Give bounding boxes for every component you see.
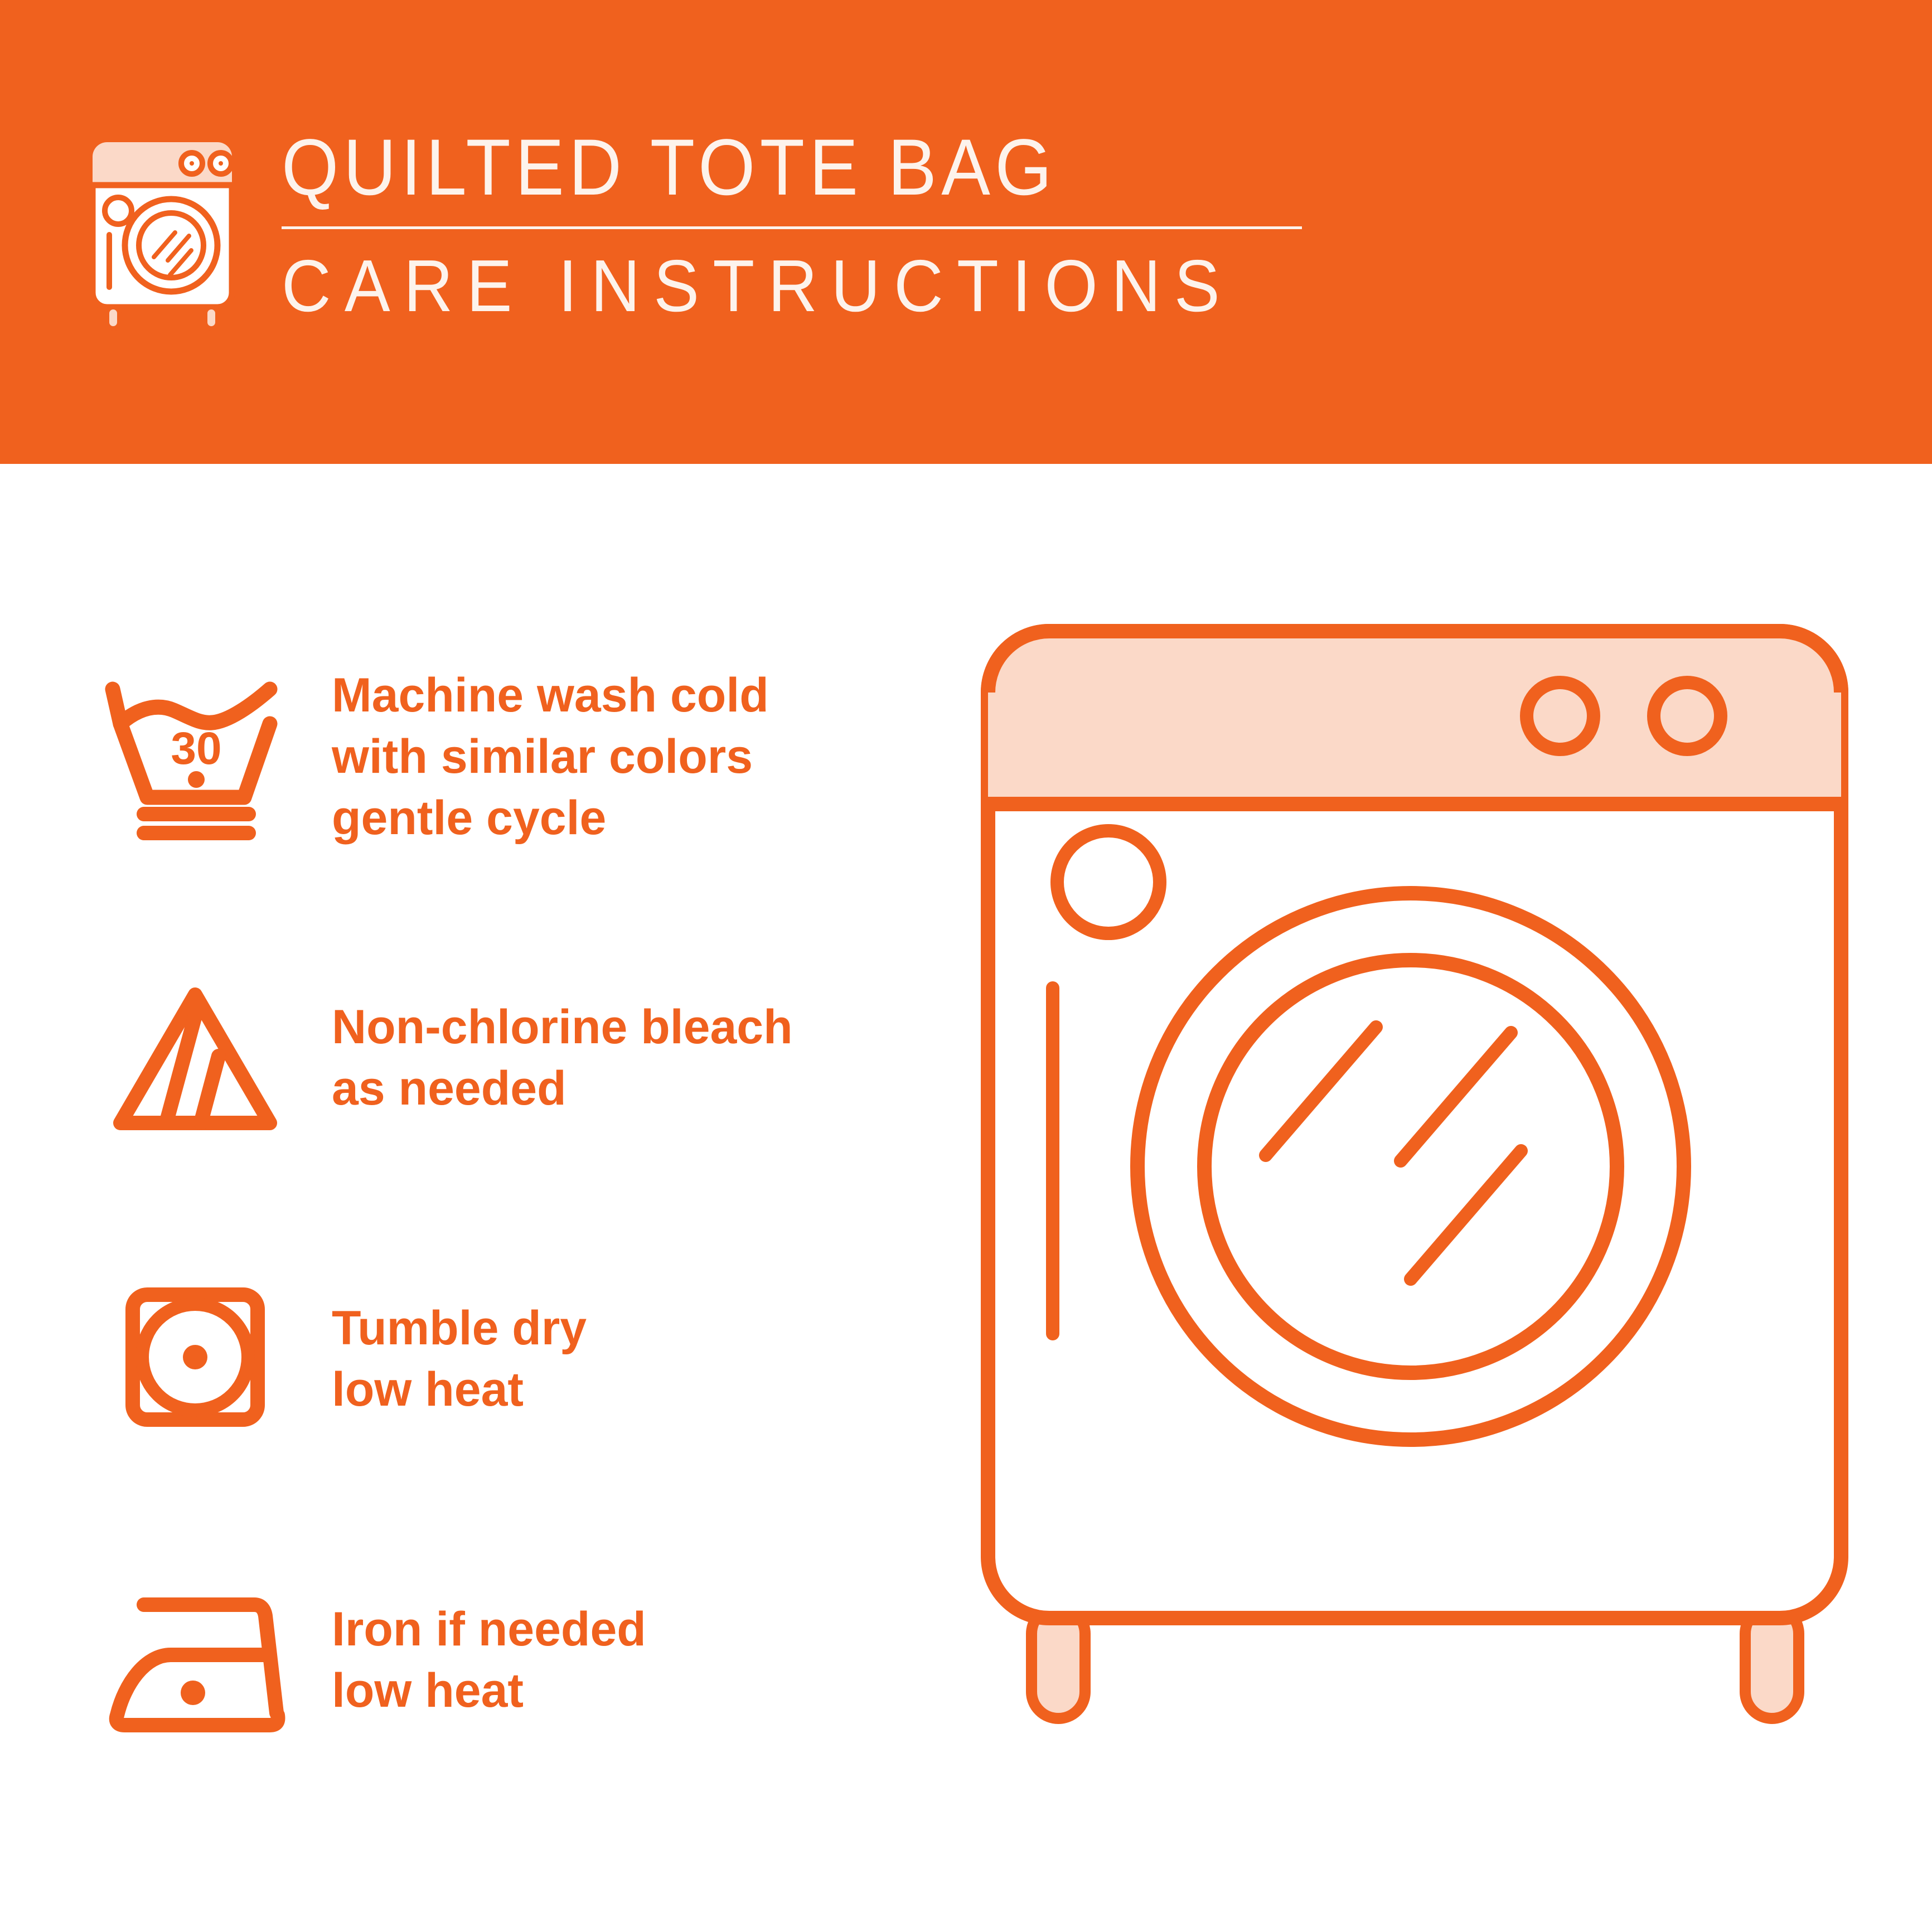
page-subtitle: CARE INSTRUCTIONS <box>282 249 1238 323</box>
page-title: QUILTED TOTE BAG <box>282 128 1228 207</box>
care-text-machine-wash: Machine wash cold with similar colors ge… <box>304 665 923 849</box>
header-banner: QUILTED TOTE BAG CARE INSTRUCTIONS <box>0 0 1932 464</box>
care-line: gentle cycle <box>332 787 923 849</box>
tumble-dry-icon <box>86 1261 304 1456</box>
washer-detergent-cap <box>1057 831 1160 933</box>
iron-icon <box>86 1562 304 1757</box>
care-instruction-list: 30 Machine wash cold with similar colors… <box>86 648 923 1852</box>
care-line: low heat <box>332 1359 923 1420</box>
header-text-block: QUILTED TOTE BAG CARE INSTRUCTIONS <box>282 125 1310 323</box>
bleach-triangle-icon <box>86 960 304 1155</box>
wash-tub-icon: 30 <box>86 659 304 854</box>
care-line: low heat <box>332 1660 923 1721</box>
main-content: 30 Machine wash cold with similar colors… <box>0 464 1932 1932</box>
wash-temperature-value: 30 <box>171 723 221 774</box>
care-row-iron: Iron if needed low heat <box>86 1551 923 1769</box>
care-row-machine-wash: 30 Machine wash cold with similar colors… <box>86 648 923 865</box>
care-line: Machine wash cold <box>332 665 923 726</box>
care-line: Tumble dry <box>332 1297 923 1359</box>
header-divider <box>282 226 1302 229</box>
care-text-bleach: Non-chlorine bleach as needed <box>304 996 923 1119</box>
care-text-iron: Iron if needed low heat <box>304 1599 923 1721</box>
care-row-bleach: Non-chlorine bleach as needed <box>86 949 923 1166</box>
care-line: Non-chlorine bleach <box>332 996 923 1058</box>
care-line: as needed <box>332 1058 923 1119</box>
care-row-tumble-dry: Tumble dry low heat <box>86 1250 923 1468</box>
care-line: with similar colors <box>332 726 923 787</box>
washing-machine-illustration <box>965 598 1868 1780</box>
washing-machine-icon <box>84 125 251 337</box>
header-content: QUILTED TOTE BAG CARE INSTRUCTIONS <box>84 125 1310 348</box>
care-line: Iron if needed <box>332 1599 923 1660</box>
care-text-tumble-dry: Tumble dry low heat <box>304 1297 923 1420</box>
